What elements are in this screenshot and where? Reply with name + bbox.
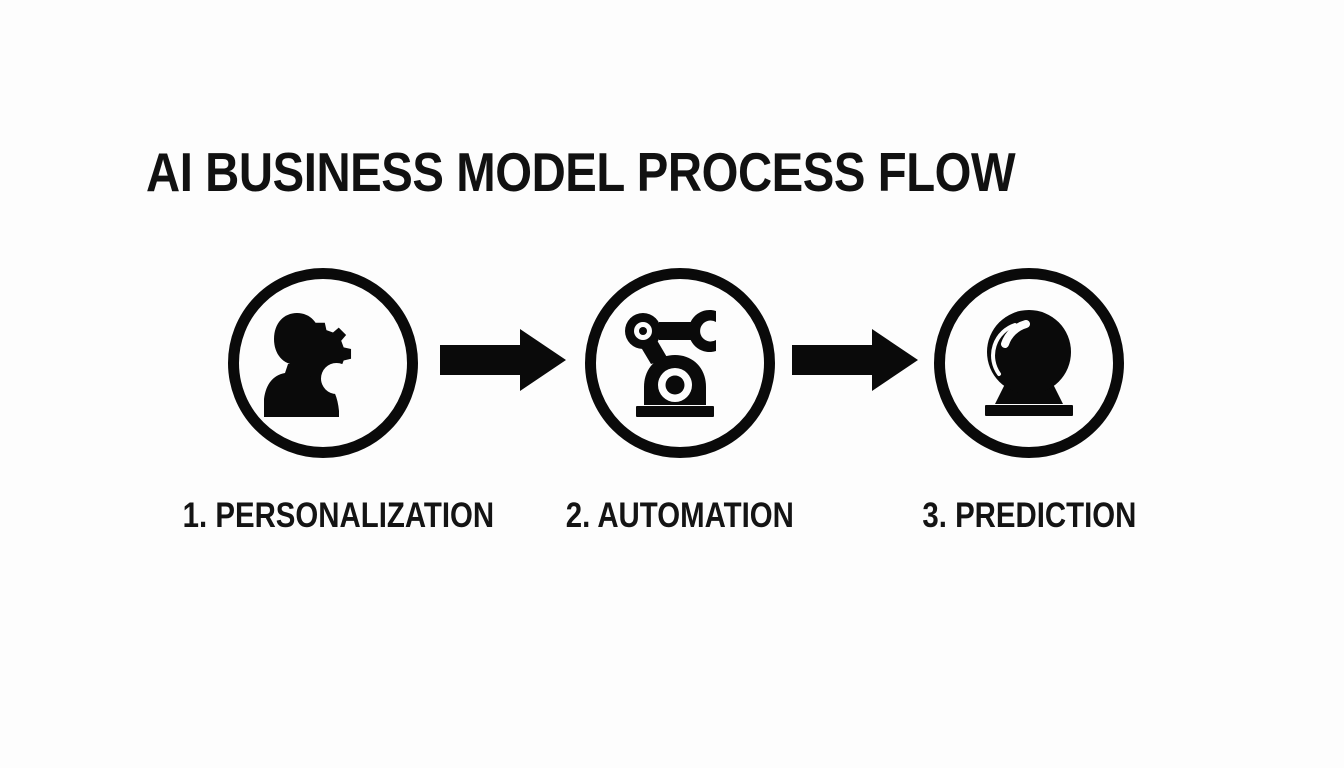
process-step-3[interactable] [924,258,1134,470]
person-with-gear-icon [228,268,418,458]
step-label-prediction: 3. PREDICTION [859,497,1199,535]
flow-arrow-1 [440,329,566,391]
robotic-arm-icon [585,268,775,458]
process-step-2[interactable] [575,258,785,470]
step-label-personalization: 1. PERSONALIZATION [153,497,493,535]
step-label-automation: 2. AUTOMATION [510,497,850,535]
diagram-canvas: AI BUSINESS MODEL PROCESS FLOW [0,0,1344,768]
process-step-1[interactable] [218,258,428,470]
crystal-ball-icon [934,268,1124,458]
process-flow-row [0,258,1344,473]
page-title: AI BUSINESS MODEL PROCESS FLOW [146,143,1015,201]
process-step-labels: 1. PERSONALIZATION 2. AUTOMATION 3. PRED… [0,497,1344,543]
flow-arrow-2 [792,329,918,391]
